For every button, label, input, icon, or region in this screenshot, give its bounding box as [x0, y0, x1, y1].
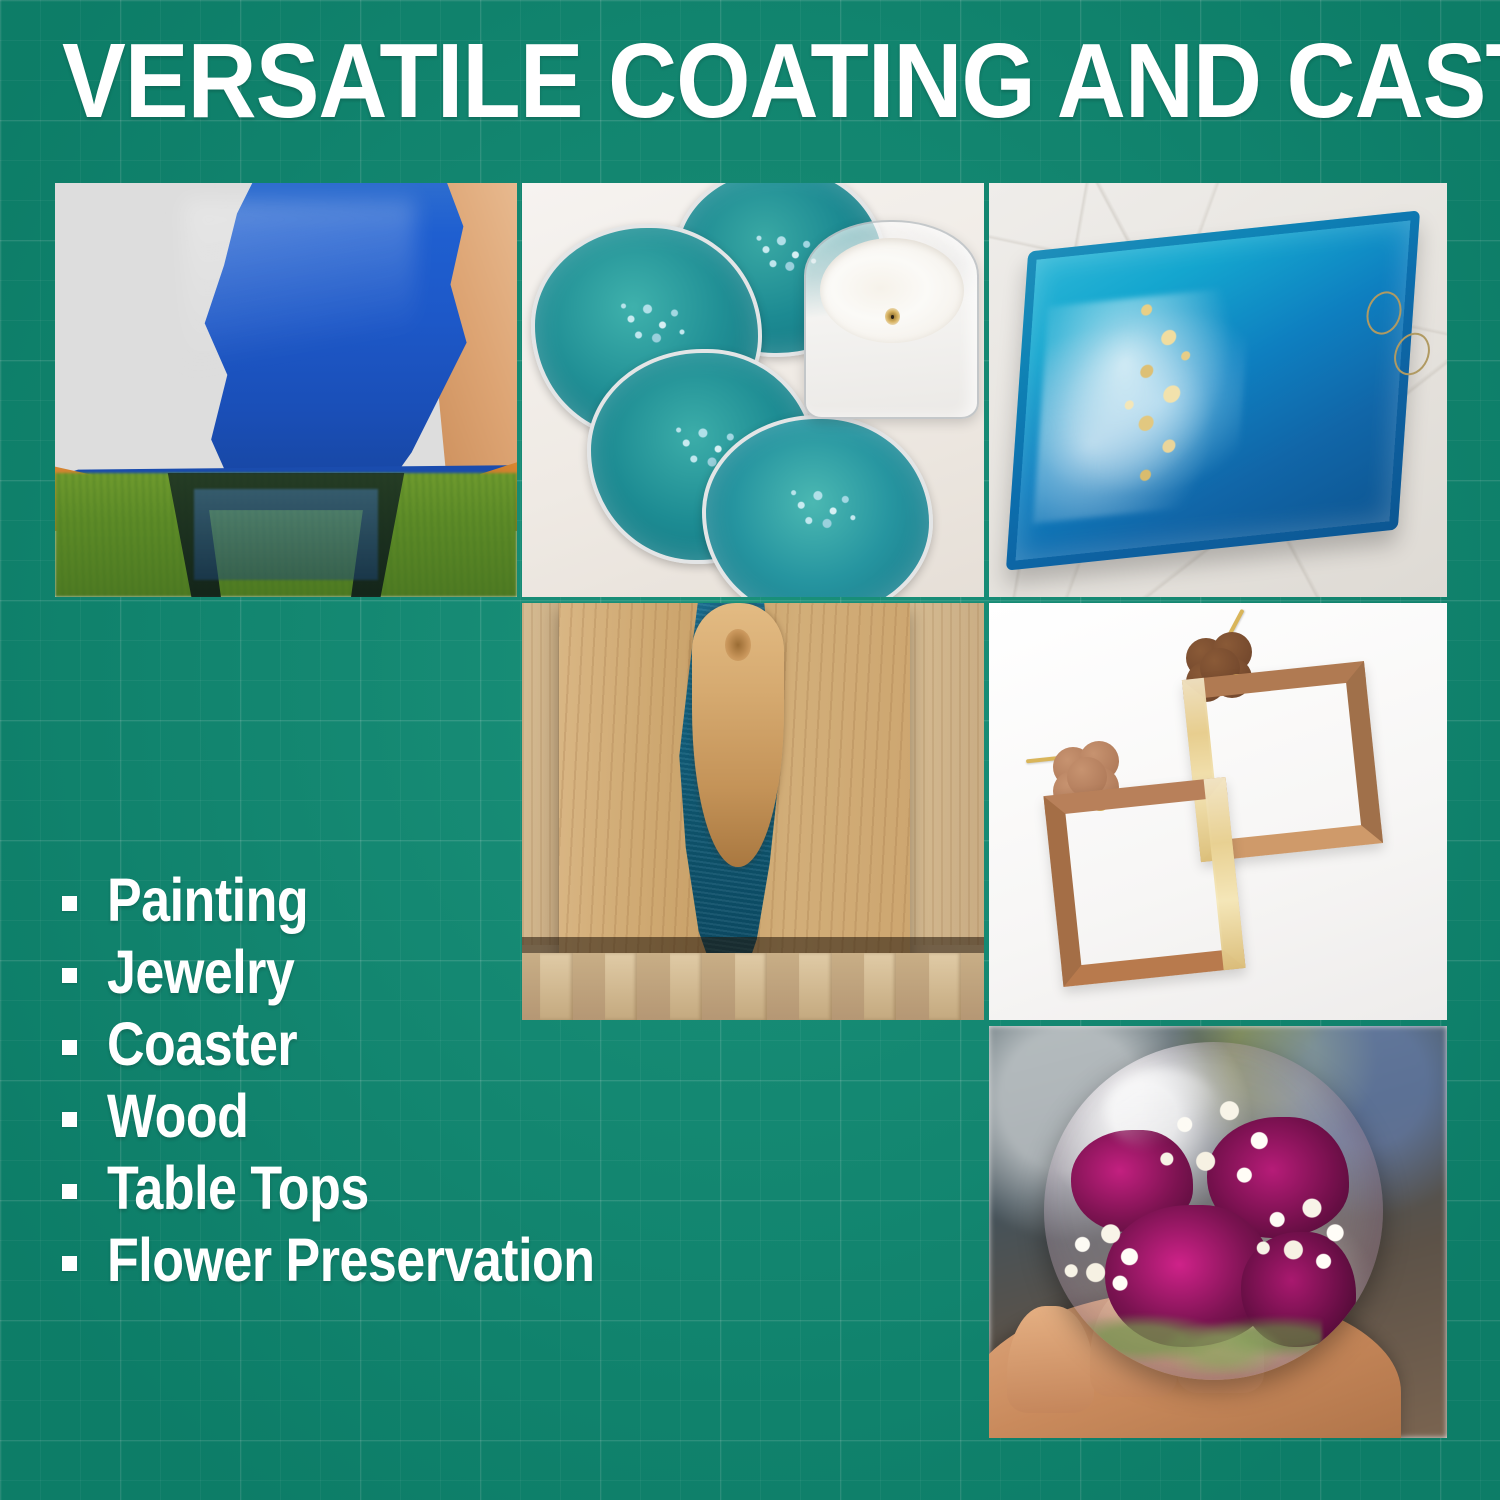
background-plank-right — [905, 603, 984, 945]
pallet-slat — [864, 953, 896, 1020]
gallery-image-river-board — [522, 603, 984, 1020]
gallery-image-earrings — [989, 603, 1447, 1020]
bullet-square-icon — [62, 1112, 77, 1127]
feature-label: Table Tops — [107, 1155, 369, 1223]
wooden-pallet — [522, 953, 984, 1020]
wood-knot-eye — [725, 629, 751, 661]
gallery-image-river-table — [55, 183, 517, 597]
list-item: Painting — [62, 872, 502, 930]
feature-label: Jewelry — [107, 939, 294, 1007]
coaster-crystal-chips — [616, 299, 692, 349]
board-shadow-gap — [522, 937, 984, 954]
gallery-image-flower-sphere — [989, 1026, 1447, 1438]
pallet-slat — [929, 953, 961, 1020]
list-item: Flower Preservation — [62, 1232, 502, 1290]
pallet-slat — [540, 953, 572, 1020]
earring-rectangle-frame-bottom — [1044, 777, 1246, 987]
clear-resin-sphere — [1044, 1042, 1383, 1380]
bullet-square-icon — [62, 1040, 77, 1055]
babys-breath-cluster — [1247, 1191, 1362, 1286]
page-title: VERSATILE COATING AND CASTING — [62, 26, 1500, 136]
candle-glass-jar — [804, 220, 980, 419]
feature-label: Painting — [107, 867, 308, 935]
bullet-square-icon — [62, 896, 77, 911]
feature-label: Coaster — [107, 1011, 297, 1079]
gallery-image-coasters — [522, 183, 984, 597]
list-item: Table Tops — [62, 1160, 502, 1218]
table-resin-sheen — [184, 200, 415, 407]
pallet-slat — [605, 953, 637, 1020]
background-plank-left — [522, 603, 559, 945]
table-leg-reflection — [194, 489, 379, 580]
pallet-slat — [735, 953, 767, 1020]
feature-label: Wood — [107, 1083, 248, 1151]
feature-list: Painting Jewelry Coaster Wood Table Tops… — [62, 872, 502, 1304]
pallet-slat — [670, 953, 702, 1020]
list-item: Wood — [62, 1088, 502, 1146]
bullet-square-icon — [62, 1256, 77, 1271]
bullet-square-icon — [62, 1184, 77, 1199]
feature-label: Flower Preservation — [107, 1227, 595, 1295]
list-item: Coaster — [62, 1016, 502, 1074]
candle-wax — [820, 238, 964, 343]
coaster-crystal-chips — [786, 486, 862, 534]
dried-greenery — [1085, 1286, 1322, 1374]
wood-resin-board — [559, 603, 910, 970]
bullet-square-icon — [62, 968, 77, 983]
sphere-specular-highlight — [1105, 1069, 1220, 1150]
list-item: Jewelry — [62, 944, 502, 1002]
gallery-image-ocean-tray — [989, 183, 1447, 597]
blue-resin-tray — [1006, 210, 1420, 570]
pallet-slat — [799, 953, 831, 1020]
